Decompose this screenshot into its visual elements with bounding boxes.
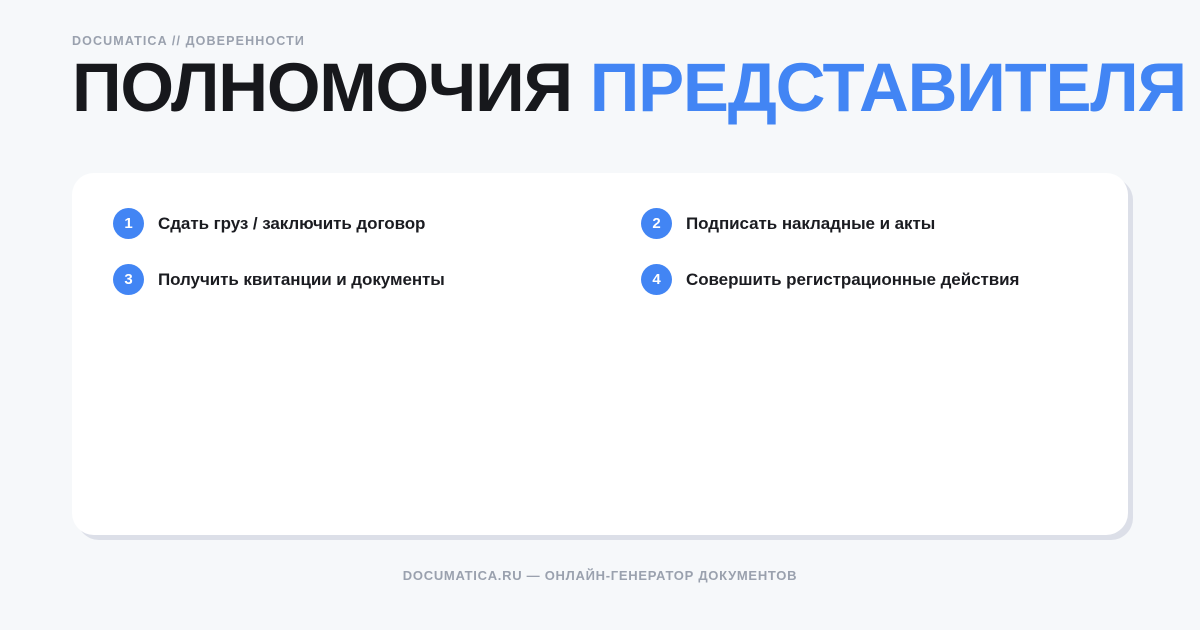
footer-text: DOCUMATICA.RU — ОНЛАЙН-ГЕНЕРАТОР ДОКУМЕН…	[0, 568, 1200, 583]
list-item-label: Сдать груз / заключить договор	[158, 213, 425, 234]
item-number-badge: 1	[113, 208, 144, 239]
item-number-badge: 4	[641, 264, 672, 295]
item-number-badge: 3	[113, 264, 144, 295]
page-title: ПОЛНОМОЧИЯ ПРЕДСТАВИТЕЛЯ	[72, 53, 1132, 122]
list-item-label: Подписать накладные и акты	[686, 213, 935, 234]
breadcrumb: DOCUMATICA // ДОВЕРЕННОСТИ	[72, 34, 1132, 49]
content-card: 1 Сдать груз / заключить договор 2 Подпи…	[72, 173, 1128, 535]
item-number-badge: 2	[641, 208, 672, 239]
slide-root: DOCUMATICA // ДОВЕРЕННОСТИ ПОЛНОМОЧИЯ ПР…	[0, 0, 1200, 630]
list-item: 2 Подписать накладные и акты	[641, 208, 1091, 239]
page-title-main: ПОЛНОМОЧИЯ	[72, 49, 572, 126]
authority-items-list: 1 Сдать груз / заключить договор 2 Подпи…	[113, 208, 1091, 320]
page-title-accent: ПРЕДСТАВИТЕЛЯ	[590, 49, 1186, 126]
list-item: 3 Получить квитанции и документы	[113, 264, 641, 295]
list-item-label: Совершить регистрационные действия	[686, 269, 1019, 290]
list-item: 1 Сдать груз / заключить договор	[113, 208, 641, 239]
list-item-label: Получить квитанции и документы	[158, 269, 445, 290]
list-item: 4 Совершить регистрационные действия	[641, 264, 1091, 295]
header: DOCUMATICA // ДОВЕРЕННОСТИ ПОЛНОМОЧИЯ ПР…	[72, 34, 1132, 122]
